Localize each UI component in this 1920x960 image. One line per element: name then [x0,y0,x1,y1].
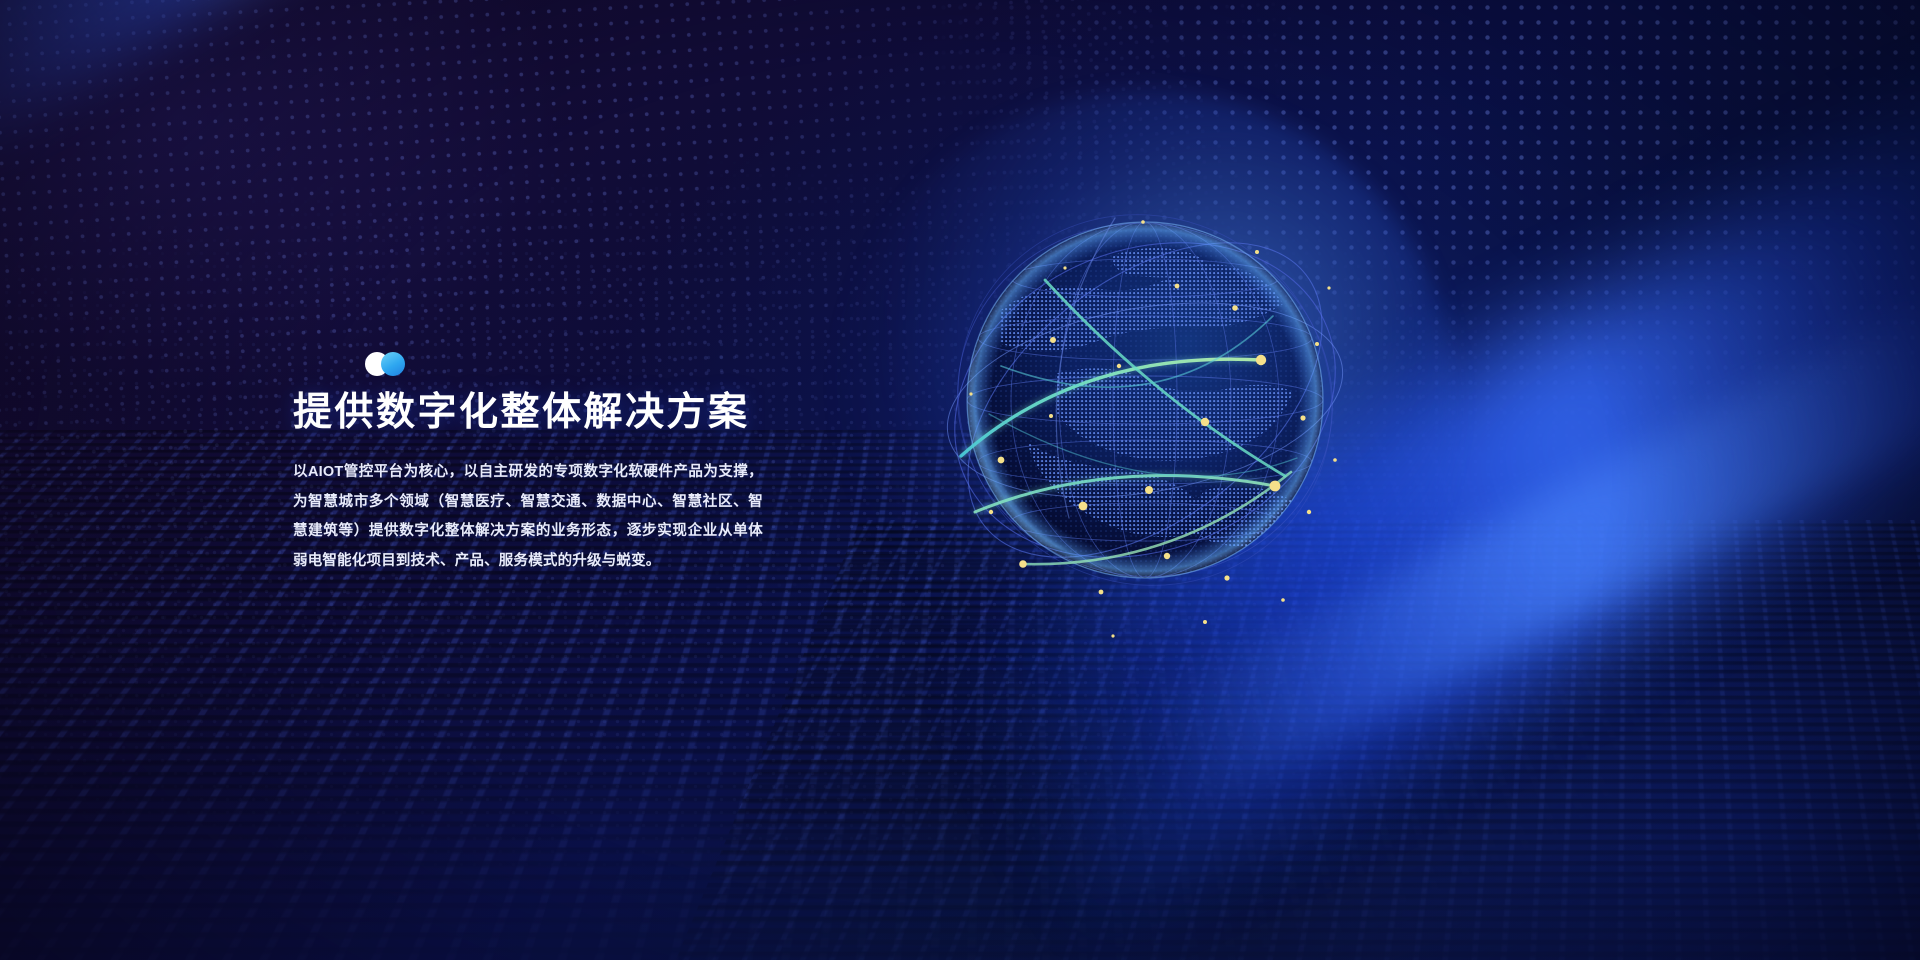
hero-text-block: 提供数字化整体解决方案 以AIOT管控平台为核心，以自主研发的专项数字化软硬件产… [293,352,763,577]
page-title: 提供数字化整体解决方案 [293,390,763,436]
circle-blue-icon [381,352,405,376]
hero-description: 以AIOT管控平台为核心，以自主研发的专项数字化软硬件产品为支撑，为智慧城市多个… [293,458,763,577]
globe-rim-light [967,222,1323,578]
brand-mark [365,352,417,376]
diagonal-light-streak-icon [0,0,570,179]
globe-svg [905,160,1385,640]
banner-stage: 提供数字化整体解决方案 以AIOT管控平台为核心，以自主研发的专项数字化软硬件产… [0,0,1920,960]
globe-network-icon [905,160,1385,640]
